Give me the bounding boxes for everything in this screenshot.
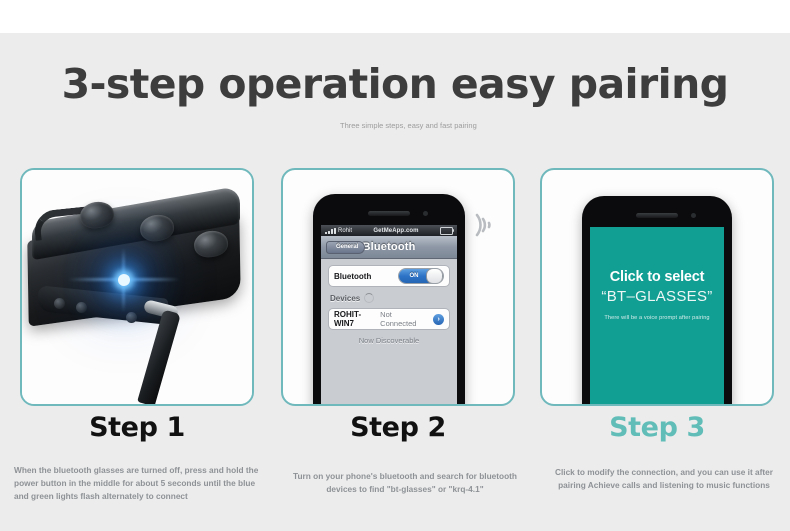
cellular-bars-icon [325, 228, 336, 234]
phone-screen: Click to select “BT–GLASSES” There will … [590, 227, 724, 406]
step-3-caption: Click to modify the connection, and you … [540, 466, 788, 492]
step-2-panel: Rohit GetMeApp.com General Bluetooth [281, 168, 515, 406]
loading-spinner-icon [364, 293, 374, 303]
phone-front-camera-icon [691, 213, 696, 218]
step-1-label: Step 1 [20, 412, 254, 443]
phone-front-camera-icon [423, 211, 428, 216]
top-white-strip [0, 0, 790, 33]
status-bar-left: Rohit [325, 228, 352, 234]
step-1-caption: When the bluetooth glasses are turned of… [14, 464, 262, 503]
status-bar-site-label: GetMeApp.com [352, 228, 440, 234]
toggle-on-label: ON [399, 269, 429, 283]
glasses-screw [54, 298, 65, 309]
devices-section-header: Devices [330, 293, 450, 303]
bluetooth-label: Bluetooth [334, 272, 371, 281]
pairing-instruction-primary: Click to select [590, 269, 724, 285]
ios-settings-body: Bluetooth ON Devices [321, 259, 457, 351]
discoverable-footnote: Now Discoverable [328, 336, 450, 345]
ios-bluetooth-settings: Rohit GetMeApp.com General Bluetooth [321, 225, 457, 406]
carrier-label: Rohit [338, 228, 352, 234]
pairing-prompt-screen: Click to select “BT–GLASSES” There will … [590, 227, 724, 406]
pairing-voice-note: There will be a voice prompt after pairi… [590, 315, 724, 321]
ios-nav-bar: General Bluetooth [321, 236, 457, 259]
glasses-screw [126, 312, 137, 323]
status-bar-right [440, 227, 453, 235]
smartphone-device: Click to select “BT–GLASSES” There will … [582, 196, 732, 406]
back-button-general[interactable]: General [326, 241, 365, 254]
phone-screen: Rohit GetMeApp.com General Bluetooth [321, 225, 457, 406]
glasses-screw [76, 302, 87, 313]
battery-icon [440, 227, 453, 235]
step-3-panel: Click to select “BT–GLASSES” There will … [540, 168, 774, 406]
step-3-label: Step 3 [540, 412, 774, 443]
device-row[interactable]: ROHIT-WIN7 Not Connected › [328, 308, 450, 330]
blue-led-indicator-icon [118, 274, 130, 286]
pairing-device-name: “BT–GLASSES” [590, 288, 724, 305]
bluetooth-toggle[interactable]: ON [398, 268, 444, 284]
device-status: Not Connected [380, 310, 429, 328]
bluetooth-glasses-photo [22, 170, 252, 404]
phone-earpiece [636, 213, 678, 218]
toggle-knob[interactable] [426, 268, 443, 284]
step-1-panel [20, 168, 254, 406]
promo-page: 3-step operation easy pairing Three simp… [0, 0, 790, 531]
ios-status-bar: Rohit GetMeApp.com [321, 225, 457, 236]
glasses-temple-arm [137, 309, 181, 406]
steps-panel-row: Rohit GetMeApp.com General Bluetooth [0, 168, 790, 408]
page-subtitle: Three simple steps, easy and fast pairin… [340, 121, 500, 132]
device-name: ROHIT-WIN7 [334, 310, 380, 328]
smartphone-device: Rohit GetMeApp.com General Bluetooth [313, 194, 465, 406]
step-2-label: Step 2 [281, 412, 515, 443]
devices-label: Devices [330, 294, 360, 303]
signal-waves-icon [471, 208, 501, 242]
step-2-caption: Turn on your phone's bluetooth and searc… [281, 470, 529, 496]
page-title: 3-step operation easy pairing [0, 60, 790, 108]
phone-earpiece [368, 211, 410, 216]
chevron-right-icon[interactable]: › [433, 314, 444, 325]
bluetooth-toggle-row[interactable]: Bluetooth ON [328, 265, 450, 287]
